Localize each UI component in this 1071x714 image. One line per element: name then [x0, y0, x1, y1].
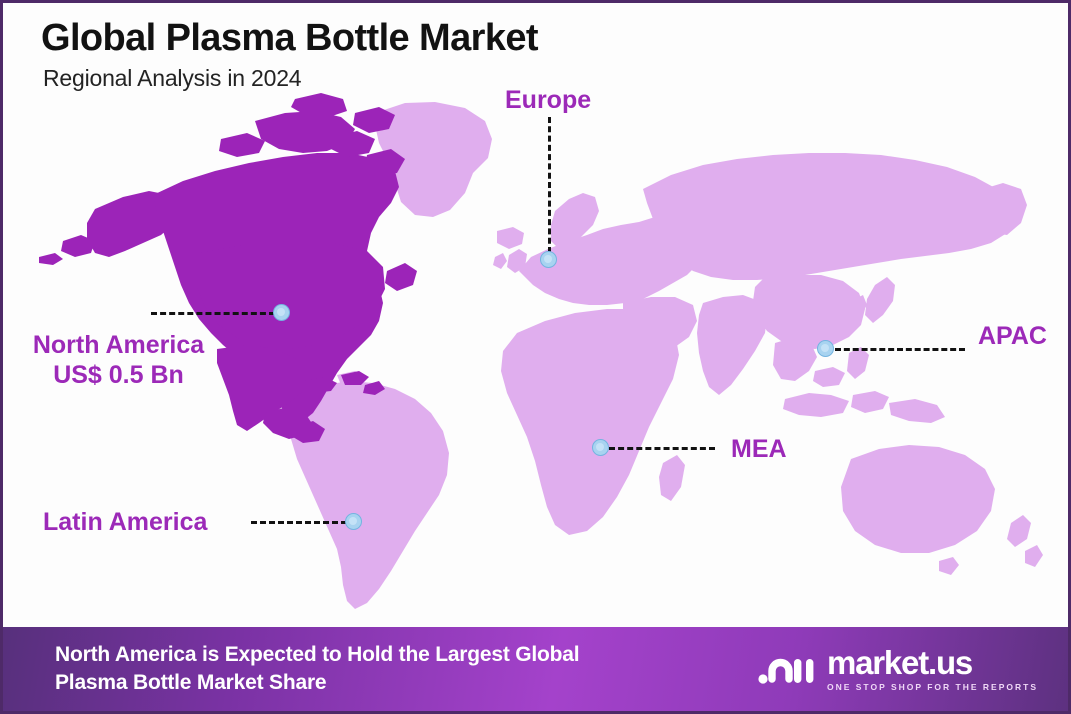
map-annotations: North America US$ 0.5 Bn Latin America E…: [3, 3, 1071, 633]
region-name-latin-america: Latin America: [43, 508, 207, 536]
logo-tagline: ONE STOP SHOP FOR THE REPORTS: [827, 683, 1038, 692]
region-label-apac: APAC: [978, 322, 1047, 352]
region-name-north-america: North America: [33, 331, 204, 359]
region-label-mea: MEA: [731, 435, 787, 465]
market-us-logo[interactable]: market.us ONE STOP SHOP FOR THE REPORTS: [758, 646, 1038, 692]
banner-message-line2: Plasma Bottle Market Share: [55, 669, 579, 697]
leader-line-europe: [548, 117, 551, 253]
leader-line-mea: [609, 447, 715, 450]
region-name-apac: APAC: [978, 322, 1047, 350]
leader-line-north-america: [151, 312, 275, 315]
map-marker-apac[interactable]: [817, 340, 834, 357]
page-title: Global Plasma Bottle Market: [41, 19, 538, 59]
map-marker-north-america[interactable]: [273, 304, 290, 321]
map-marker-europe[interactable]: [540, 251, 557, 268]
logo-text: market.us ONE STOP SHOP FOR THE REPORTS: [827, 646, 1038, 692]
region-label-north-america: North America US$ 0.5 Bn: [21, 331, 216, 390]
header: Global Plasma Bottle Market Regional Ana…: [41, 19, 538, 92]
banner-message: North America is Expected to Hold the La…: [55, 641, 579, 697]
map-marker-mea[interactable]: [592, 439, 609, 456]
leader-line-apac: [835, 348, 965, 351]
region-label-latin-america: Latin America: [43, 508, 207, 538]
map-marker-latin-america[interactable]: [345, 513, 362, 530]
bottom-banner: North America is Expected to Hold the La…: [3, 627, 1068, 711]
region-value-north-america: US$ 0.5 Bn: [21, 361, 216, 391]
region-name-mea: MEA: [731, 435, 787, 463]
market-us-wave-icon: [758, 649, 816, 689]
leader-line-latin-america: [251, 521, 347, 524]
infographic-root: Global Plasma Bottle Market Regional Ana…: [0, 0, 1071, 714]
banner-message-line1: North America is Expected to Hold the La…: [55, 641, 579, 669]
page-subtitle: Regional Analysis in 2024: [43, 65, 538, 92]
logo-name: market.us: [827, 646, 1038, 679]
